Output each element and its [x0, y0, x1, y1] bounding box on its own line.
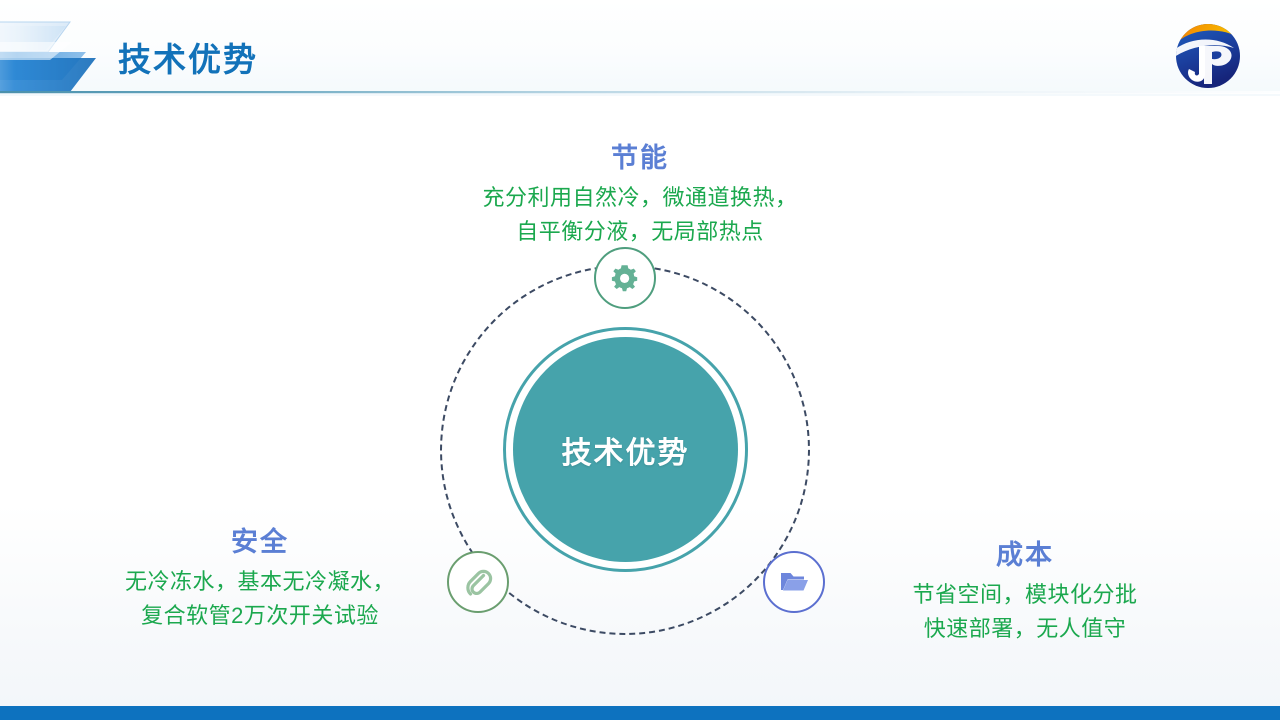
- block-safety-body: 无冷冻水，基本无冷凝水， 复合软管2万次开关试验: [45, 565, 475, 633]
- block-cost-body: 节省空间，模块化分批 快速部署，无人值守: [810, 578, 1240, 646]
- node-safety[interactable]: [447, 551, 509, 613]
- node-cost[interactable]: [763, 551, 825, 613]
- slide-canvas: 技术优势 节能 充分利用自然冷，微通道换热， 自平衡: [0, 0, 1280, 720]
- core-circle: 技术优势: [513, 337, 738, 562]
- folder-icon: [777, 566, 811, 598]
- block-energy-body: 充分利用自然冷，微通道换热， 自平衡分液，无局部热点: [340, 181, 940, 249]
- node-energy[interactable]: [594, 247, 656, 309]
- advantages-diagram: 技术优势: [425, 255, 855, 645]
- block-energy: 节能 充分利用自然冷，微通道换热， 自平衡分液，无局部热点: [340, 136, 940, 249]
- page-title: 技术优势: [118, 33, 258, 81]
- block-safety-title: 安全: [45, 520, 475, 559]
- header-divider-secondary: [0, 93, 1280, 94]
- block-cost-title: 成本: [810, 533, 1240, 572]
- paperclip-icon: [462, 566, 494, 598]
- block-energy-title: 节能: [340, 136, 940, 175]
- footer-bar: [0, 706, 1280, 720]
- core-label: 技术优势: [562, 428, 690, 472]
- block-cost: 成本 节省空间，模块化分批 快速部署，无人值守: [810, 533, 1240, 646]
- block-safety: 安全 无冷冻水，基本无冷凝水， 复合软管2万次开关试验: [45, 520, 475, 633]
- company-logo: [1174, 22, 1242, 90]
- gear-icon: [609, 262, 641, 294]
